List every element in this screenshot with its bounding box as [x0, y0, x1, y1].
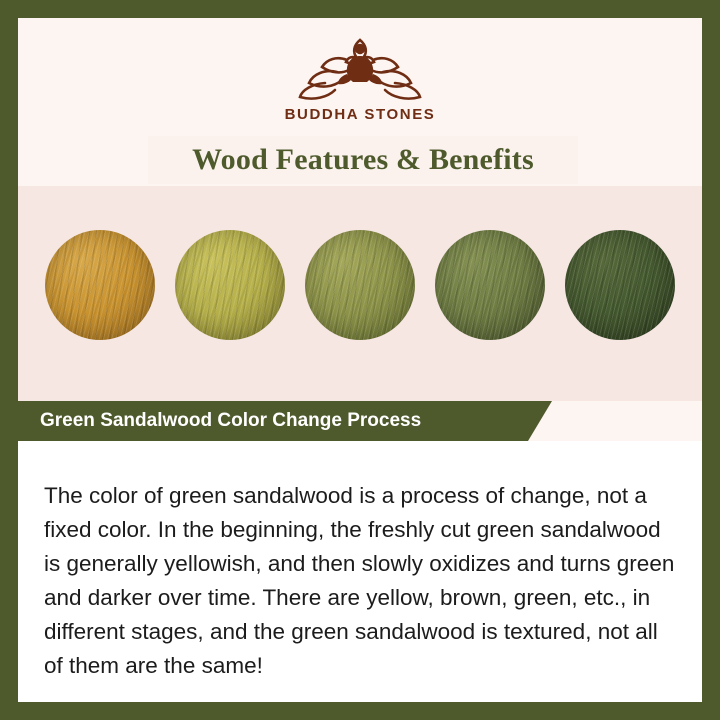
swatch-stage-1: [45, 230, 155, 340]
wood-grain-texture: [305, 230, 415, 340]
section-bar-slant: [528, 401, 552, 441]
swatch-stage-3: [305, 230, 415, 340]
brand-name: BUDDHA STONES: [285, 106, 436, 123]
swatch-panel: [18, 186, 702, 401]
lotus-buddha-icon: [285, 30, 435, 102]
section-heading-label: Green Sandalwood Color Change Process: [18, 410, 421, 432]
swatch-stage-2: [175, 230, 285, 340]
swatch-stage-4: [435, 230, 545, 340]
body-paragraph: The color of green sandalwood is a proce…: [44, 479, 680, 683]
poster-header: BUDDHA STONES Wood Features & Benefits: [18, 18, 702, 186]
swatch-stage-5: [565, 230, 675, 340]
wood-grain-texture: [175, 230, 285, 340]
swatch-row: [18, 230, 702, 340]
section-heading-bar: Green Sandalwood Color Change Process: [18, 401, 528, 441]
body-panel: The color of green sandalwood is a proce…: [18, 441, 702, 702]
page-title: Wood Features & Benefits: [192, 145, 534, 175]
poster: BUDDHA STONES Wood Features & Benefits G…: [0, 0, 720, 720]
wood-grain-texture: [45, 230, 155, 340]
wood-grain-texture: [565, 230, 675, 340]
poster-card: BUDDHA STONES Wood Features & Benefits G…: [18, 18, 702, 702]
brand-logo: BUDDHA STONES: [18, 30, 702, 123]
wood-grain-texture: [435, 230, 545, 340]
title-band: Wood Features & Benefits: [148, 136, 578, 184]
